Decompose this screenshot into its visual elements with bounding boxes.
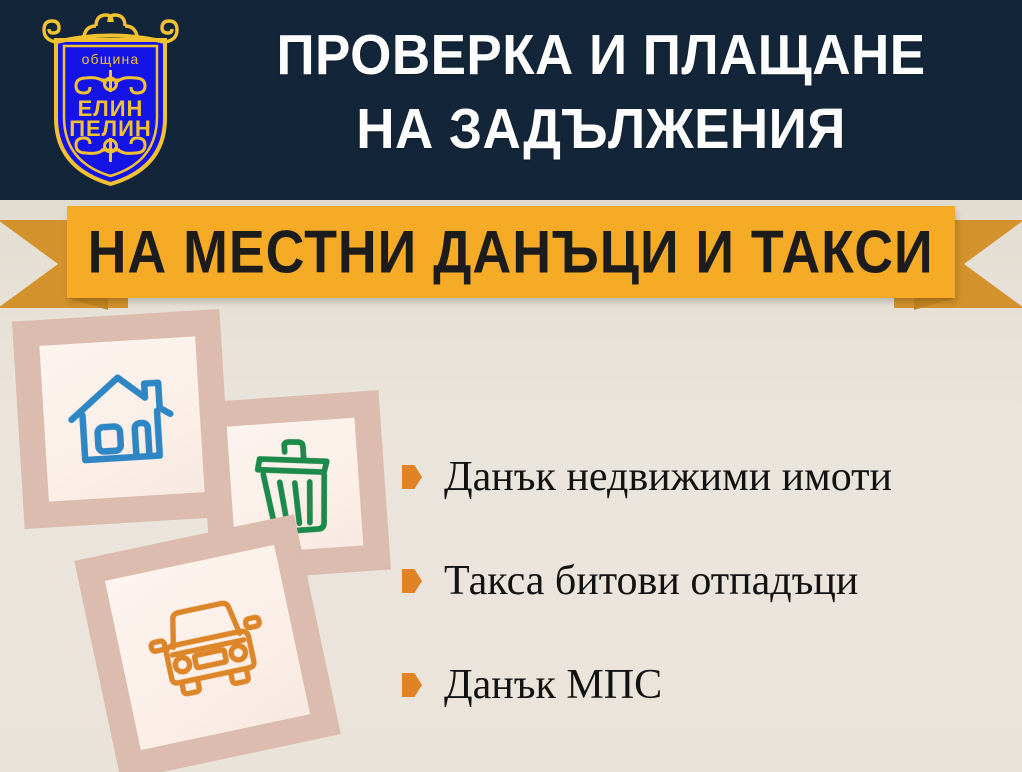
- ribbon-label: НА МЕСТНИ ДАНЪЦИ И ТАКСИ: [88, 221, 934, 283]
- list-item-label: Данък МПС: [444, 662, 662, 708]
- list-item-label: Данък недвижими имоти: [444, 454, 892, 500]
- stamp-paper: [39, 336, 204, 501]
- car-icon: [141, 590, 274, 705]
- property-stamp: [12, 309, 232, 529]
- poster-canvas: община ЕЛИН ПЕЛИН ПРОВЕРКА И ПЛАЩАНЕ НА …: [0, 0, 1022, 772]
- bullet-arrow-icon: [402, 569, 422, 593]
- coat-of-arms: община ЕЛИН ПЕЛИН: [38, 10, 183, 190]
- list-item: Такса битови отпадъци: [402, 529, 1012, 633]
- bullet-arrow-icon: [402, 673, 422, 697]
- page-title-line-1: ПРОВЕРКА И ПЛАЩАНЕ: [276, 23, 925, 87]
- subtitle-ribbon: НА МЕСТНИ ДАНЪЦИ И ТАКСИ: [0, 198, 1022, 318]
- list-item: Данък недвижими имоти: [402, 425, 1012, 529]
- list-item: Данък МПС: [402, 633, 1012, 737]
- list-item-label: Такса битови отпадъци: [444, 558, 858, 604]
- stamp-paper: [105, 545, 310, 750]
- crest-label-line2: ПЕЛИН: [69, 116, 152, 141]
- ribbon-band: НА МЕСТНИ ДАНЪЦИ И ТАКСИ: [67, 206, 955, 298]
- header-bar: община ЕЛИН ПЕЛИН ПРОВЕРКА И ПЛАЩАНЕ НА …: [0, 0, 1022, 200]
- bullet-arrow-icon: [402, 465, 422, 489]
- crest-label-small: община: [82, 51, 140, 67]
- page-title-line-2: НА ЗАДЪЛЖЕНИЯ: [223, 92, 978, 166]
- tax-type-list: Данък недвижими имоти Такса битови отпад…: [402, 425, 1012, 737]
- page-title: ПРОВЕРКА И ПЛАЩАНЕ НА ЗАДЪЛЖЕНИЯ: [223, 18, 978, 166]
- house-icon: [63, 364, 181, 474]
- vehicle-stamp: [74, 514, 341, 772]
